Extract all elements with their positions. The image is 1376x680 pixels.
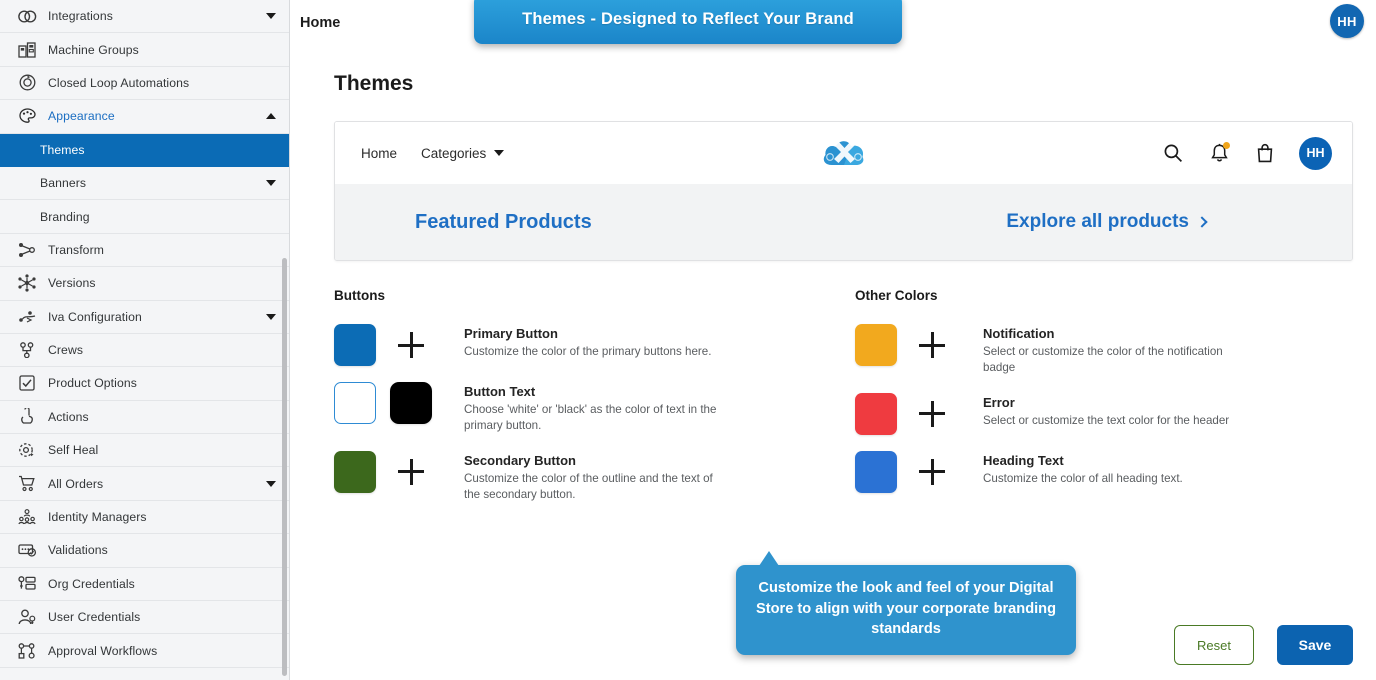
setting-title: Heading Text: [983, 453, 1183, 468]
approval-workflows-icon: [16, 641, 38, 661]
setting-description: Customize the color of the outline and t…: [464, 471, 724, 504]
explore-all-products-label: Explore all products: [1006, 211, 1189, 233]
sidebar-item-label: Validations: [48, 543, 276, 557]
crews-icon: [16, 340, 38, 360]
sidebar-item-label: Org Credentials: [48, 577, 276, 591]
preview-nav-links: Home Categories: [361, 146, 504, 161]
sidebar-item-label: All Orders: [48, 477, 266, 491]
sidebar-item-label: Machine Groups: [48, 43, 276, 57]
swatch-group: [855, 324, 983, 366]
sidebar-item-identity-managers[interactable]: Identity Managers: [0, 501, 290, 534]
color-swatch-error[interactable]: [855, 393, 897, 435]
appearance-palette-icon: [16, 106, 38, 126]
avatar[interactable]: HH: [1330, 4, 1364, 38]
chevron-down-icon: [494, 150, 504, 156]
sidebar-item-label: Branding: [40, 210, 276, 224]
user-credentials-icon: [16, 607, 38, 627]
all-orders-cart-icon: [16, 474, 38, 494]
preview-nav-actions: HH: [1161, 137, 1332, 170]
color-swatch-notification[interactable]: [855, 324, 897, 366]
setting-title: Secondary Button: [464, 453, 724, 468]
buttons-section-title: Buttons: [334, 288, 855, 303]
setting-row-primary-button: Primary Button Customize the color of th…: [334, 324, 855, 366]
sidebar-item-label: Approval Workflows: [48, 644, 276, 658]
sidebar-item-validations[interactable]: Validations: [0, 534, 290, 567]
page-title: Themes: [334, 72, 1376, 96]
setting-row-button-text: Button Text Choose 'white' or 'black' as…: [334, 382, 855, 435]
setting-title: Notification: [983, 326, 1253, 341]
org-credentials-icon: [16, 574, 38, 594]
save-button[interactable]: Save: [1277, 625, 1353, 665]
setting-text: Secondary Button Customize the color of …: [464, 451, 724, 504]
sidebar-item-label: Banners: [40, 176, 266, 190]
setting-description: Choose 'white' or 'black' as the color o…: [464, 402, 724, 435]
notification-bell-icon[interactable]: [1207, 141, 1231, 165]
color-settings-columns: Buttons Primary Button Customize the col…: [334, 288, 1376, 520]
main-content: Home HH Themes - Designed to Reflect You…: [290, 0, 1376, 680]
sidebar-item-label: Self Heal: [48, 443, 276, 457]
chevron-down-icon[interactable]: [266, 314, 276, 320]
search-icon[interactable]: [1161, 141, 1185, 165]
product-options-icon: [16, 373, 38, 393]
swatch-group: [855, 451, 983, 493]
sidebar-item-crews[interactable]: Crews: [0, 334, 290, 367]
swatch-group: [855, 393, 983, 435]
sidebar-item-label: Identity Managers: [48, 510, 276, 524]
sidebar-item-iva-configuration[interactable]: Iva Configuration: [0, 301, 290, 334]
sidebar-item-label: Iva Configuration: [48, 310, 266, 324]
sidebar-item-actions[interactable]: Actions: [0, 401, 290, 434]
footer-actions: Reset Save: [1174, 625, 1353, 665]
sidebar-item-label: Closed Loop Automations: [48, 76, 276, 90]
other-colors-section-title: Other Colors: [855, 288, 1376, 303]
reset-button[interactable]: Reset: [1174, 625, 1254, 665]
setting-text: Primary Button Customize the color of th…: [464, 324, 711, 360]
sidebar-item-all-orders[interactable]: All Orders: [0, 467, 290, 500]
color-swatch-button-text-black[interactable]: [390, 382, 432, 424]
add-color-plus-icon[interactable]: [911, 324, 953, 366]
add-color-plus-icon[interactable]: [390, 324, 432, 366]
setting-row-heading-text: Heading Text Customize the color of all …: [855, 451, 1376, 493]
setting-row-notification: Notification Select or customize the col…: [855, 324, 1376, 377]
brand-logo-icon: [821, 135, 867, 171]
chevron-down-icon[interactable]: [266, 13, 276, 19]
setting-description: Select or customize the color of the not…: [983, 344, 1253, 377]
chevron-right-icon: [1196, 216, 1207, 227]
bottom-callout-tooltip: Customize the look and feel of your Digi…: [736, 565, 1076, 655]
add-color-plus-icon[interactable]: [911, 451, 953, 493]
self-heal-icon: [16, 440, 38, 460]
versions-icon: [16, 273, 38, 293]
preview-nav-home[interactable]: Home: [361, 146, 397, 161]
sidebar: Integrations Machine Groups Closed Loop …: [0, 0, 290, 680]
notification-badge-dot: [1223, 142, 1230, 149]
setting-description: Select or customize the text color for t…: [983, 413, 1229, 429]
sidebar-item-approval-workflows[interactable]: Approval Workflows: [0, 634, 290, 667]
sidebar-item-branding[interactable]: Branding: [0, 200, 290, 233]
sidebar-item-label: Crews: [48, 343, 276, 357]
preview-nav-categories-label: Categories: [421, 146, 486, 161]
sidebar-item-appearance[interactable]: Appearance: [0, 100, 290, 133]
sidebar-item-label: Actions: [48, 410, 276, 424]
setting-row-secondary-button: Secondary Button Customize the color of …: [334, 451, 855, 504]
sidebar-item-label: Themes: [40, 143, 276, 157]
validations-icon: [16, 540, 38, 560]
app-root: Integrations Machine Groups Closed Loop …: [0, 0, 1376, 680]
sidebar-item-versions[interactable]: Versions: [0, 267, 290, 300]
chevron-up-icon[interactable]: [266, 113, 276, 119]
add-color-plus-icon[interactable]: [911, 393, 953, 435]
sidebar-item-self-heal[interactable]: Self Heal: [0, 434, 290, 467]
closed-loop-automations-icon: [16, 73, 38, 93]
sidebar-scrollbar-thumb[interactable]: [282, 258, 287, 676]
swatch-group: [334, 451, 464, 493]
identity-managers-icon: [16, 507, 38, 527]
shopping-bag-icon[interactable]: [1253, 141, 1277, 165]
sidebar-item-closed-loop-automations[interactable]: Closed Loop Automations: [0, 67, 290, 100]
color-swatch-button-text-white[interactable]: [334, 382, 376, 424]
sidebar-item-themes[interactable]: Themes: [0, 134, 290, 167]
swatch-group: [334, 382, 464, 424]
setting-title: Primary Button: [464, 326, 711, 341]
featured-products-heading: Featured Products: [415, 211, 592, 234]
sidebar-item-label: Appearance: [48, 109, 266, 123]
setting-text: Heading Text Customize the color of all …: [983, 451, 1183, 487]
setting-text: Button Text Choose 'white' or 'black' as…: [464, 382, 724, 435]
setting-description: Customize the color of the primary butto…: [464, 344, 711, 360]
color-swatch-primary-button[interactable]: [334, 324, 376, 366]
sidebar-item-product-options[interactable]: Product Options: [0, 367, 290, 400]
preview-nav-categories[interactable]: Categories: [421, 146, 504, 161]
setting-text: Notification Select or customize the col…: [983, 324, 1253, 377]
sidebar-item-user-credentials[interactable]: User Credentials: [0, 601, 290, 634]
sidebar-item-machine-groups[interactable]: Machine Groups: [0, 33, 290, 66]
chevron-down-icon[interactable]: [266, 481, 276, 487]
sidebar-item-label: Transform: [48, 243, 276, 257]
sidebar-item-label: Product Options: [48, 376, 276, 390]
setting-text: Error Select or customize the text color…: [983, 393, 1229, 429]
preview-featured-band: Featured Products Explore all products: [335, 184, 1352, 260]
setting-title: Button Text: [464, 384, 724, 399]
iva-configuration-icon: [16, 307, 38, 327]
theme-preview-card: Home Categories: [334, 121, 1353, 261]
sidebar-item-org-credentials[interactable]: Org Credentials: [0, 568, 290, 601]
actions-icon: [16, 407, 38, 427]
sidebar-item-transform[interactable]: Transform: [0, 234, 290, 267]
integrations-icon: [16, 6, 38, 26]
explore-all-products-link[interactable]: Explore all products: [1006, 211, 1206, 233]
top-callout-banner: Themes - Designed to Reflect Your Brand: [474, 0, 902, 44]
preview-navbar: Home Categories: [335, 122, 1352, 184]
sidebar-item-label: User Credentials: [48, 610, 276, 624]
color-swatch-heading-text[interactable]: [855, 451, 897, 493]
setting-description: Customize the color of all heading text.: [983, 471, 1183, 487]
sidebar-scroll-area: Integrations Machine Groups Closed Loop …: [0, 0, 290, 668]
other-colors-section: Other Colors Notification Select or cust…: [855, 288, 1376, 520]
machine-groups-icon: [16, 40, 38, 60]
color-swatch-secondary-button[interactable]: [334, 451, 376, 493]
swatch-group: [334, 324, 464, 366]
buttons-section: Buttons Primary Button Customize the col…: [334, 288, 855, 520]
sidebar-item-integrations[interactable]: Integrations: [0, 0, 290, 33]
preview-avatar[interactable]: HH: [1299, 137, 1332, 170]
breadcrumb[interactable]: Home: [300, 15, 340, 31]
sidebar-item-banners[interactable]: Banners: [0, 167, 290, 200]
setting-row-error: Error Select or customize the text color…: [855, 393, 1376, 435]
add-color-plus-icon[interactable]: [390, 451, 432, 493]
chevron-down-icon[interactable]: [266, 180, 276, 186]
setting-title: Error: [983, 395, 1229, 410]
sidebar-item-label: Versions: [48, 276, 276, 290]
sidebar-item-label: Integrations: [48, 9, 266, 23]
transform-icon: [16, 240, 38, 260]
